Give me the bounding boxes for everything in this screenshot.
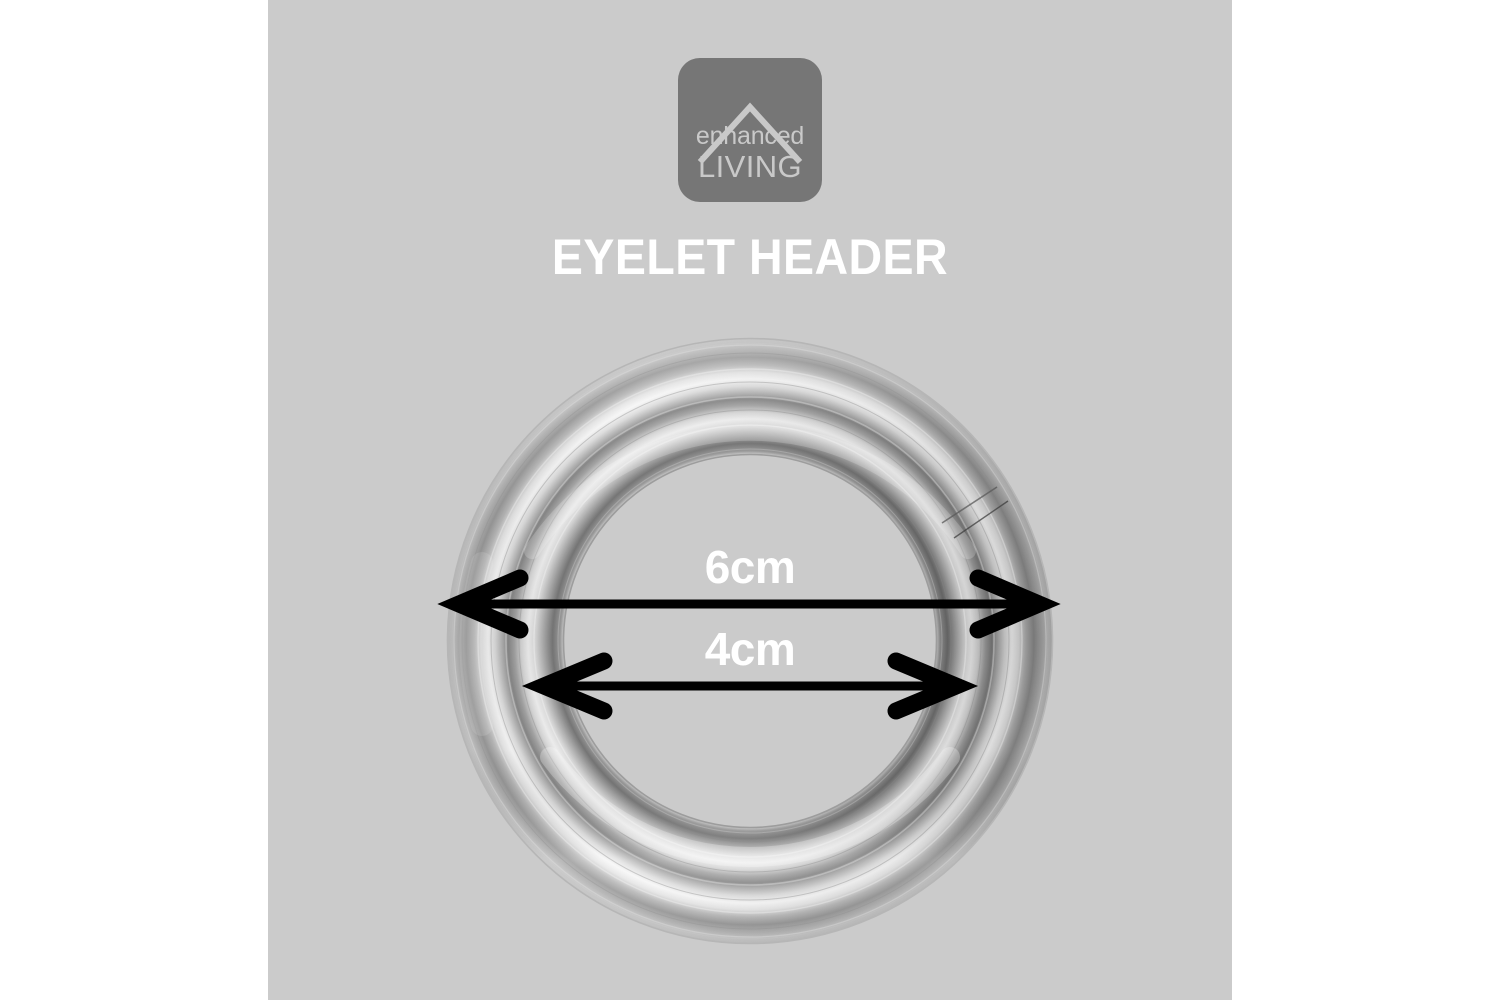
- page-title: EYELET HEADER: [302, 228, 1199, 286]
- logo-line-living: LIVING: [678, 151, 822, 182]
- inner-diameter-label: 4cm: [600, 626, 900, 672]
- roof-chevron-icon: [678, 58, 822, 202]
- enhanced-living-logo: enhanced LIVING: [678, 58, 822, 202]
- product-image-canvas: enhanced LIVING EYELET HEADER: [0, 0, 1500, 1000]
- logo-wordmark: enhanced LIVING: [678, 124, 822, 182]
- logo-line-enhanced: enhanced: [678, 124, 822, 149]
- outer-diameter-label: 6cm: [600, 544, 900, 590]
